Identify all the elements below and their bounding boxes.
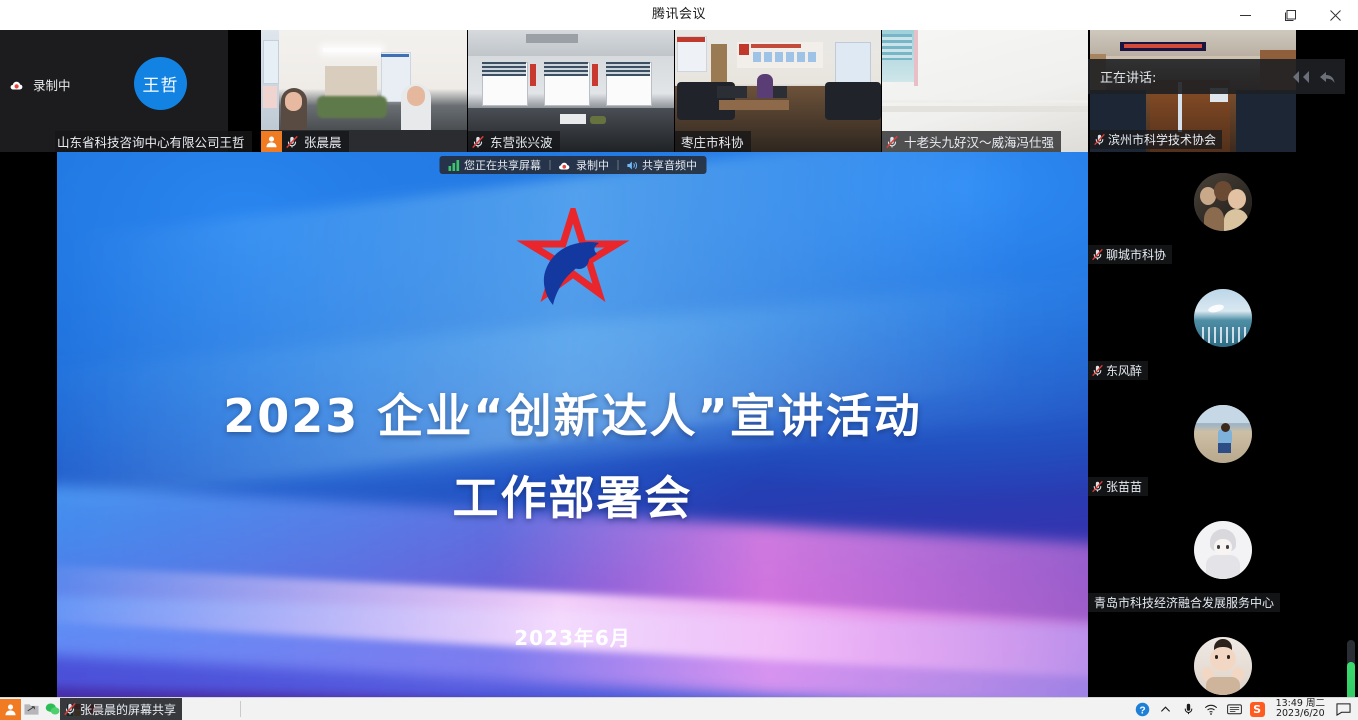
slide-title-line2: 工作部署会: [57, 462, 1088, 528]
close-button[interactable]: [1313, 0, 1358, 30]
speaking-overlay-icons[interactable]: [1289, 59, 1337, 94]
self-tile-name: 山东省科技咨询中心有限公司王哲: [55, 132, 245, 151]
participant-name: 青岛市科技经济融合发展服务中心: [1088, 594, 1274, 611]
video-tile[interactable]: 东营张兴波: [468, 30, 674, 152]
person-icon: [4, 703, 17, 716]
taskbar-separator: [240, 701, 241, 717]
video-tile[interactable]: 十老头九好汉～威海冯仕强: [882, 30, 1088, 152]
cloud-record-icon: [558, 160, 572, 171]
share-status-sharing: 您正在共享屏幕: [448, 157, 541, 173]
self-video-tile[interactable]: 录制中 王哲 山东省科技咨询中心有限公司王哲: [0, 30, 228, 152]
share-status-recording-label: 录制中: [576, 157, 609, 173]
video-tile-name: 东营张兴波: [488, 132, 553, 151]
mic-off-icon: [471, 135, 485, 149]
participant-name-label: 东风醉: [1088, 361, 1148, 380]
ime-icon: [1227, 703, 1242, 716]
close-icon: [1330, 10, 1341, 21]
star-runner-logo: [513, 208, 633, 308]
maximize-button[interactable]: [1268, 0, 1313, 30]
signal-bars-icon: [448, 160, 460, 171]
video-tile-label: 枣庄市科协: [675, 131, 751, 152]
help-button[interactable]: ?: [1132, 699, 1153, 720]
sidebar-top-tile-label: 滨州市科学技术协会: [1090, 130, 1222, 149]
tencent-meeting-window: 腾讯会议: [0, 0, 1358, 720]
mic-off-icon: [885, 135, 899, 149]
recording-indicator: 录制中: [10, 75, 71, 94]
mic-off-icon: [1091, 480, 1104, 493]
mic-off-icon: [1091, 364, 1104, 377]
video-tile-name: 枣庄市科协: [675, 132, 744, 151]
wifi-icon: [1204, 703, 1218, 716]
participant-avatar[interactable]: [1194, 289, 1252, 347]
participant-name: 聊城市科协: [1106, 246, 1166, 263]
share-status-audio-label: 共享音频中: [642, 157, 697, 173]
self-avatar-initials: 王哲: [143, 71, 179, 96]
show-hidden-icons-button[interactable]: [1155, 699, 1176, 720]
share-status-sharing-label: 您正在共享屏幕: [464, 157, 541, 173]
participant-avatar[interactable]: [1194, 637, 1252, 695]
video-tile-label: 张晨晨: [261, 131, 349, 152]
wechat-icon: [45, 702, 60, 716]
mic-muted-icon: [1090, 130, 1108, 149]
share-status-audio: 共享音频中: [626, 157, 697, 173]
video-tile[interactable]: 枣庄市科协: [675, 30, 881, 152]
video-tile-label: 东营张兴波: [468, 131, 560, 152]
participant-name-label: 青岛市科技经济融合发展服务中心: [1088, 593, 1280, 612]
participant-name: 东风醉: [1106, 362, 1142, 379]
meeting-stage: 录制中 王哲 山东省科技咨询中心有限公司王哲: [0, 30, 1358, 720]
sogou-input-button[interactable]: S: [1247, 699, 1268, 720]
shared-screen-area[interactable]: 您正在共享屏幕 录制中 共享音频中: [57, 152, 1088, 720]
self-tile-name-label: 山东省科技咨询中心有限公司王哲: [55, 131, 252, 152]
mic-muted-icon: [282, 131, 302, 152]
participant-avatar[interactable]: [1194, 521, 1252, 579]
folder-icon: [24, 702, 39, 716]
taskbar-clock[interactable]: 13:49 周二 2023/6/20: [1270, 699, 1331, 719]
notification-icon: [1336, 702, 1351, 716]
mic-off-icon: [63, 702, 77, 716]
microphone-tray-button[interactable]: [1178, 699, 1199, 720]
participant-name-label: 聊城市科协: [1088, 245, 1172, 264]
chevron-up-icon: [1160, 704, 1171, 715]
maximize-icon: [1285, 10, 1296, 21]
slide-light-band: [57, 152, 1088, 514]
video-tile-name: 十老头九好汉～威海冯仕强: [902, 132, 1054, 151]
speaking-overlay: 正在讲话:: [1088, 59, 1345, 94]
share-status-bar[interactable]: 您正在共享屏幕 录制中 共享音频中: [439, 156, 706, 174]
share-status-recording: 录制中: [558, 157, 609, 173]
video-filmstrip: 录制中 王哲 山东省科技咨询中心有限公司王哲: [0, 30, 1088, 152]
participant-name: 张苗苗: [1106, 478, 1142, 495]
mic-off-icon: [1091, 248, 1104, 261]
windows-taskbar[interactable]: 张晨晨的屏幕共享 ?: [0, 697, 1358, 720]
clock-date: 2023/6/20: [1276, 709, 1325, 719]
video-tile-name: 张晨晨: [302, 132, 342, 151]
slide-date: 2023年6月: [57, 622, 1088, 651]
microphone-icon: [1182, 702, 1195, 716]
share-status-divider: [549, 160, 550, 170]
participant-avatar[interactable]: [1194, 173, 1252, 231]
participant-avatar[interactable]: [1194, 405, 1252, 463]
slide-title-line1: 2023 企业“创新达人”宣讲活动: [57, 380, 1088, 446]
participant-avatar-icon: [261, 131, 282, 152]
collapse-arrows-icon[interactable]: [1289, 67, 1313, 87]
person-icon: [265, 135, 278, 148]
action-center-button[interactable]: [1333, 699, 1354, 720]
mic-off-icon: [1093, 133, 1106, 146]
participant-name-label: 张苗苗: [1088, 477, 1148, 496]
svg-text:?: ?: [1139, 705, 1145, 716]
sidebar-top-tile-name: 滨州市科学技术协会: [1108, 131, 1216, 148]
taskbar-person-icon[interactable]: [0, 699, 21, 720]
minimize-icon: [1240, 10, 1251, 21]
cloud-record-icon: [10, 79, 26, 91]
recording-label: 录制中: [33, 75, 71, 94]
taskbar-explorer-icon[interactable]: [21, 699, 42, 720]
screen-share-chip-label: 张晨晨的屏幕共享: [80, 701, 176, 718]
minimize-button[interactable]: [1223, 0, 1268, 30]
mic-muted-icon: [60, 698, 80, 720]
video-tile[interactable]: 张晨晨: [261, 30, 467, 152]
video-tile-label: 十老头九好汉～威海冯仕强: [882, 131, 1061, 152]
sogou-input-icon: S: [1250, 702, 1265, 717]
screen-share-chip[interactable]: 张晨晨的屏幕共享: [60, 698, 182, 720]
speaking-label: 正在讲话:: [1100, 67, 1156, 86]
mic-muted-icon: [1088, 245, 1106, 264]
mic-muted-icon: [882, 131, 902, 152]
help-icon: ?: [1135, 702, 1150, 717]
participant-sidebar[interactable]: 滨州市科学技术协会 正在讲话:: [1088, 30, 1358, 720]
speaker-icon: [626, 160, 638, 171]
self-avatar: 王哲: [134, 57, 187, 110]
mic-muted-icon: [468, 131, 488, 152]
share-status-divider: [617, 160, 618, 170]
mic-muted-icon: [1088, 361, 1106, 380]
window-title: 腾讯会议: [0, 0, 1358, 30]
taskbar-system-tray: ?: [1132, 698, 1354, 720]
mic-off-icon: [285, 135, 299, 149]
network-button[interactable]: [1201, 699, 1222, 720]
return-arrow-icon[interactable]: [1317, 67, 1337, 87]
window-controls: [1223, 0, 1358, 30]
ime-status-button[interactable]: [1224, 699, 1245, 720]
window-title-bar: 腾讯会议: [0, 0, 1358, 31]
mic-muted-icon: [1088, 477, 1106, 496]
